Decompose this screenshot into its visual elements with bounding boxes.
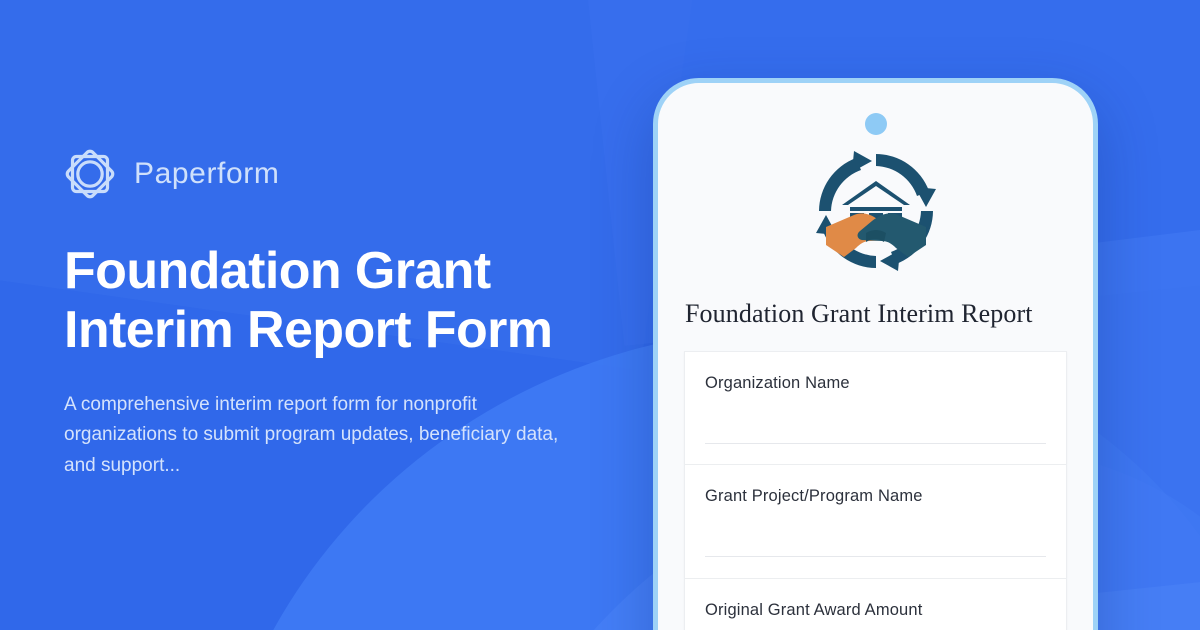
page-description: A comprehensive interim report form for … bbox=[64, 390, 579, 482]
form-heading: Foundation Grant Interim Report bbox=[685, 299, 1067, 329]
form-field-original-grant-award-amount[interactable]: Original Grant Award Amount bbox=[684, 579, 1067, 630]
camera-dot-icon bbox=[865, 113, 887, 135]
share-card-canvas: Paperform Foundation Grant Interim Repor… bbox=[0, 0, 1200, 630]
paperform-logo-icon bbox=[64, 148, 116, 200]
brand-name: Paperform bbox=[134, 157, 279, 191]
page-title: Foundation Grant Interim Report Form bbox=[64, 242, 584, 360]
field-label: Original Grant Award Amount bbox=[705, 601, 1046, 620]
handshake-house-arrows-logo-icon bbox=[810, 145, 942, 277]
phone-mockup: Foundation Grant Interim Report Organiza… bbox=[653, 78, 1098, 630]
form-field-organization-name[interactable]: Organization Name bbox=[684, 351, 1067, 465]
form-field-grant-project-name[interactable]: Grant Project/Program Name bbox=[684, 465, 1067, 579]
field-label: Organization Name bbox=[705, 374, 1046, 393]
hero-content: Paperform Foundation Grant Interim Repor… bbox=[64, 0, 649, 630]
form-preview: Foundation Grant Interim Report Organiza… bbox=[658, 83, 1093, 630]
field-input-underline[interactable] bbox=[705, 443, 1046, 444]
field-input-underline[interactable] bbox=[705, 556, 1046, 557]
brand-lockup: Paperform bbox=[64, 148, 649, 200]
field-label: Grant Project/Program Name bbox=[705, 487, 1046, 506]
